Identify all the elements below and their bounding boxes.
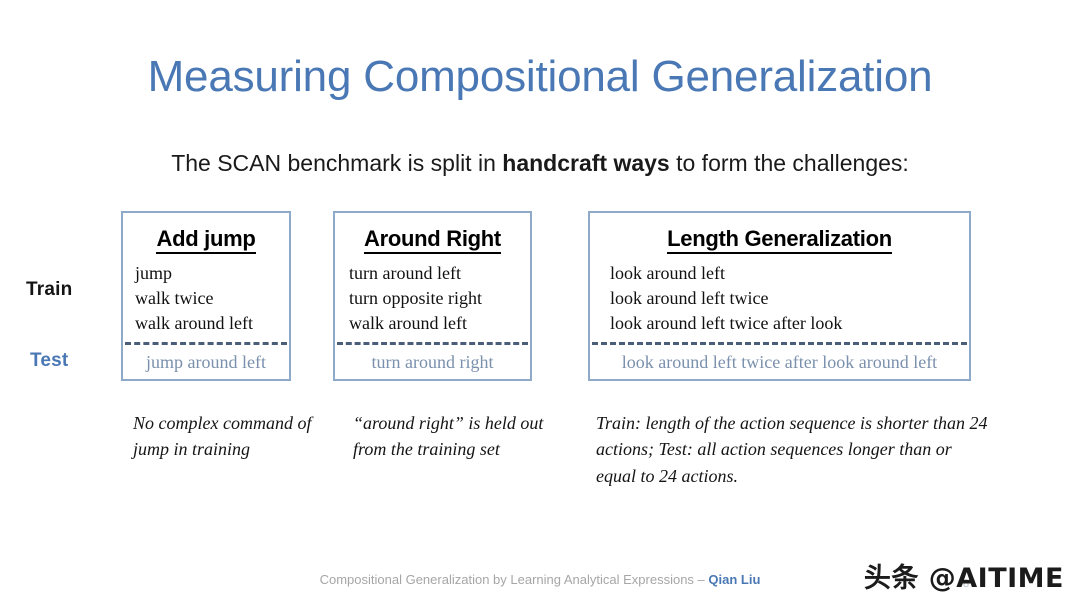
row-label-test: Test <box>30 350 68 372</box>
challenge-title: Around Right <box>335 227 530 250</box>
train-example-item: look around left twice after look <box>610 311 969 336</box>
train-example-list: look around left look around left twice … <box>590 250 969 336</box>
challenge-title-text: Add jump <box>156 226 255 254</box>
train-example-list: jump walk twice walk around left <box>123 250 289 336</box>
train-example-item: walk twice <box>135 286 289 311</box>
train-example-item: look around left twice <box>610 286 969 311</box>
challenge-box-length-generalization: Length Generalization look around left l… <box>588 211 971 381</box>
train-example-item: jump <box>135 261 289 286</box>
subtitle-text-after: to form the challenges: <box>670 150 909 176</box>
challenge-title-text: Around Right <box>364 226 501 254</box>
test-example-item: look around left twice after look around… <box>590 350 969 375</box>
row-label-train: Train <box>26 279 72 301</box>
train-example-item: turn opposite right <box>349 286 530 311</box>
challenge-caption-length-generalization: Train: length of the action sequence is … <box>596 410 988 489</box>
train-test-divider <box>125 342 287 345</box>
subtitle-text-bold: handcraft ways <box>502 150 669 176</box>
watermark-aitime: 头条 @AITIME <box>864 556 1064 595</box>
slide-subtitle: The SCAN benchmark is split in handcraft… <box>0 150 1080 177</box>
challenge-title-text: Length Generalization <box>667 226 892 254</box>
subtitle-text-before: The SCAN benchmark is split in <box>171 150 502 176</box>
train-example-list: turn around left turn opposite right wal… <box>335 250 530 336</box>
challenge-title: Add jump <box>123 227 289 250</box>
footer-paper-title: Compositional Generalization by Learning… <box>320 572 709 587</box>
test-example-item: jump around left <box>123 350 289 375</box>
footer-author: Qian Liu <box>708 572 760 587</box>
train-example-item: look around left <box>610 261 969 286</box>
train-example-item: walk around left <box>135 311 289 336</box>
train-test-divider <box>592 342 967 345</box>
train-test-divider <box>337 342 528 345</box>
challenge-caption-around-right: “around right” is held out from the trai… <box>353 410 553 463</box>
test-example-item: turn around right <box>335 350 530 375</box>
challenge-box-add-jump: Add jump jump walk twice walk around lef… <box>121 211 291 381</box>
page-title: Measuring Compositional Generalization <box>0 52 1080 102</box>
train-example-item: turn around left <box>349 261 530 286</box>
train-example-item: walk around left <box>349 311 530 336</box>
challenge-caption-add-jump: No complex command of jump in training <box>133 410 323 463</box>
challenge-box-around-right: Around Right turn around left turn oppos… <box>333 211 532 381</box>
challenge-title: Length Generalization <box>590 227 969 250</box>
